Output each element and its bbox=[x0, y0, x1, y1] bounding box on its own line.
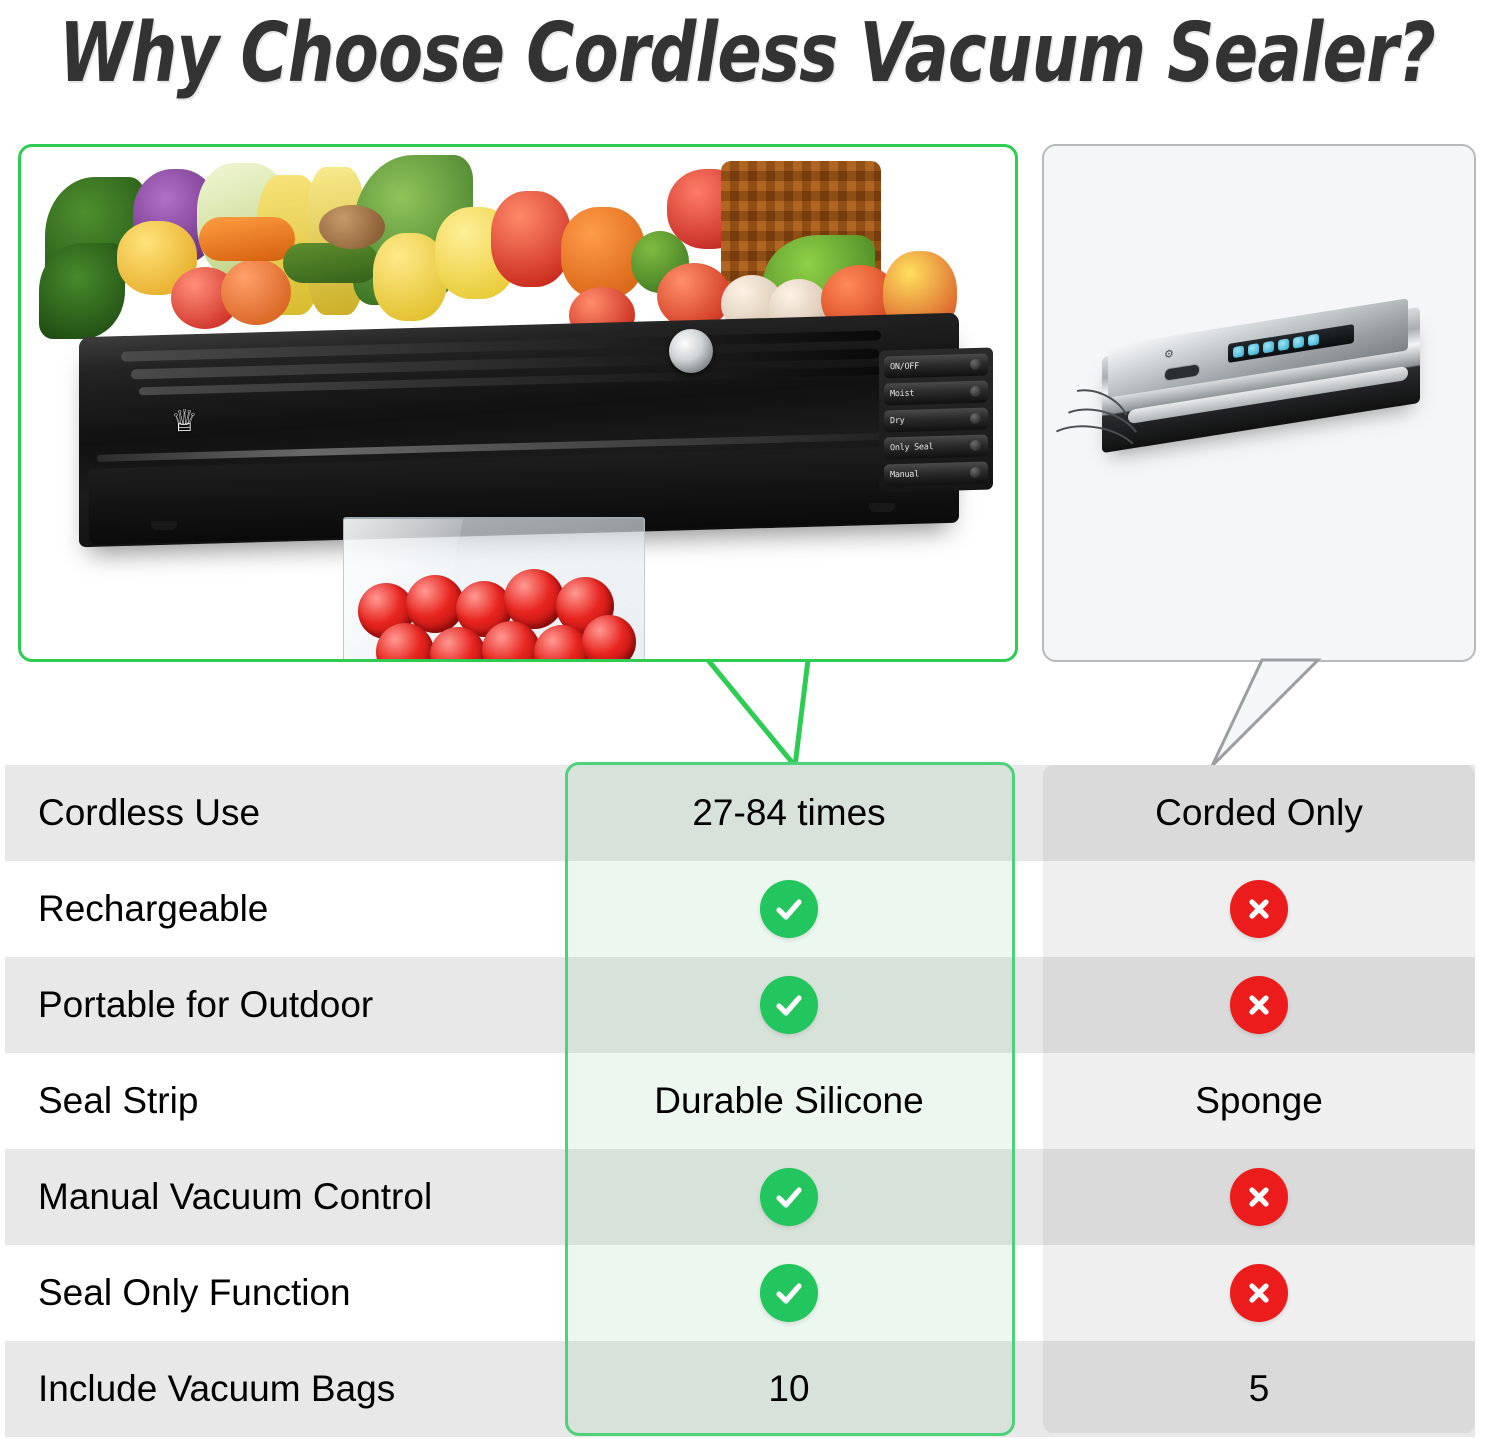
cross-icon bbox=[1230, 1168, 1288, 1226]
button-only-seal[interactable]: Only Seal bbox=[884, 435, 988, 460]
table-row: Rechargeable bbox=[5, 861, 1475, 957]
button-moist[interactable]: Moist bbox=[884, 381, 988, 406]
table-row: Cordless Use 27-84 times Corded Only bbox=[5, 765, 1475, 861]
table-row: Portable for Outdoor bbox=[5, 957, 1475, 1053]
cordless-value bbox=[565, 880, 1013, 938]
check-icon bbox=[760, 1264, 818, 1322]
button-only-seal-label: Only Seal bbox=[890, 442, 933, 453]
feature-label: Seal Only Function bbox=[5, 1272, 565, 1314]
cordless-product-panel: ♕ ON/OFF Moist Dry Only Seal Manual bbox=[18, 144, 1018, 662]
button-on-off[interactable]: ON/OFF bbox=[884, 354, 988, 379]
corded-sealer-device: ⚙ bbox=[1102, 314, 1432, 494]
table-row: Manual Vacuum Control bbox=[5, 1149, 1475, 1245]
table-cells: Cordless Use 27-84 times Corded Only Rec… bbox=[0, 765, 1494, 1439]
cross-icon bbox=[1230, 976, 1288, 1034]
corded-value bbox=[1043, 880, 1475, 938]
check-icon bbox=[760, 1168, 818, 1226]
corded-value: Sponge bbox=[1043, 1080, 1475, 1122]
control-panel: ON/OFF Moist Dry Only Seal Manual bbox=[879, 347, 993, 492]
cordless-value: Durable Silicone bbox=[565, 1080, 1013, 1122]
button-on-off-label: ON/OFF bbox=[890, 361, 919, 372]
cordless-value bbox=[565, 1264, 1013, 1322]
button-manual-label: Manual bbox=[890, 469, 919, 480]
brand-logo: ♕ bbox=[171, 407, 198, 438]
feature-label: Portable for Outdoor bbox=[5, 984, 565, 1026]
cordless-value bbox=[565, 1168, 1013, 1226]
cross-icon bbox=[1230, 1264, 1288, 1322]
cross-icon bbox=[1230, 880, 1288, 938]
page-title-text: Why Choose Cordless Vacuum Sealer? bbox=[59, 11, 1435, 97]
feature-label: Include Vacuum Bags bbox=[5, 1368, 565, 1410]
lid-latch-knob bbox=[669, 329, 713, 373]
button-moist-label: Moist bbox=[890, 389, 914, 400]
feature-label: Rechargeable bbox=[5, 888, 565, 930]
cordless-value bbox=[565, 976, 1013, 1034]
corded-value: Corded Only bbox=[1043, 792, 1475, 834]
corded-value bbox=[1043, 976, 1475, 1034]
cordless-value: 10 bbox=[565, 1368, 1013, 1410]
vacuum-bag-with-cherries bbox=[343, 517, 645, 662]
button-manual[interactable]: Manual bbox=[884, 462, 988, 487]
corded-value bbox=[1043, 1264, 1475, 1322]
cordless-sealer-device: ♕ ON/OFF Moist Dry Only Seal Manual bbox=[79, 325, 959, 535]
corded-value: 5 bbox=[1043, 1368, 1475, 1410]
product-panels: ♕ ON/OFF Moist Dry Only Seal Manual bbox=[0, 108, 1494, 768]
corded-value bbox=[1043, 1168, 1475, 1226]
comparison-table: Cordless Use 27-84 times Corded Only Rec… bbox=[0, 765, 1494, 1439]
button-dry[interactable]: Dry bbox=[884, 408, 988, 433]
feature-label: Seal Strip bbox=[5, 1080, 565, 1122]
table-row: Seal Only Function bbox=[5, 1245, 1475, 1341]
button-dry-label: Dry bbox=[890, 416, 904, 426]
table-row: Seal Strip Durable Silicone Sponge bbox=[5, 1053, 1475, 1149]
page-title: Why Choose Cordless Vacuum Sealer? bbox=[0, 0, 1494, 108]
check-icon bbox=[760, 880, 818, 938]
table-row: Include Vacuum Bags 10 5 bbox=[5, 1341, 1475, 1437]
corded-product-panel: ⚙ bbox=[1042, 144, 1476, 662]
cordless-value: 27-84 times bbox=[565, 792, 1013, 834]
check-icon bbox=[760, 976, 818, 1034]
feature-label: Cordless Use bbox=[5, 792, 565, 834]
feature-label: Manual Vacuum Control bbox=[5, 1176, 565, 1218]
